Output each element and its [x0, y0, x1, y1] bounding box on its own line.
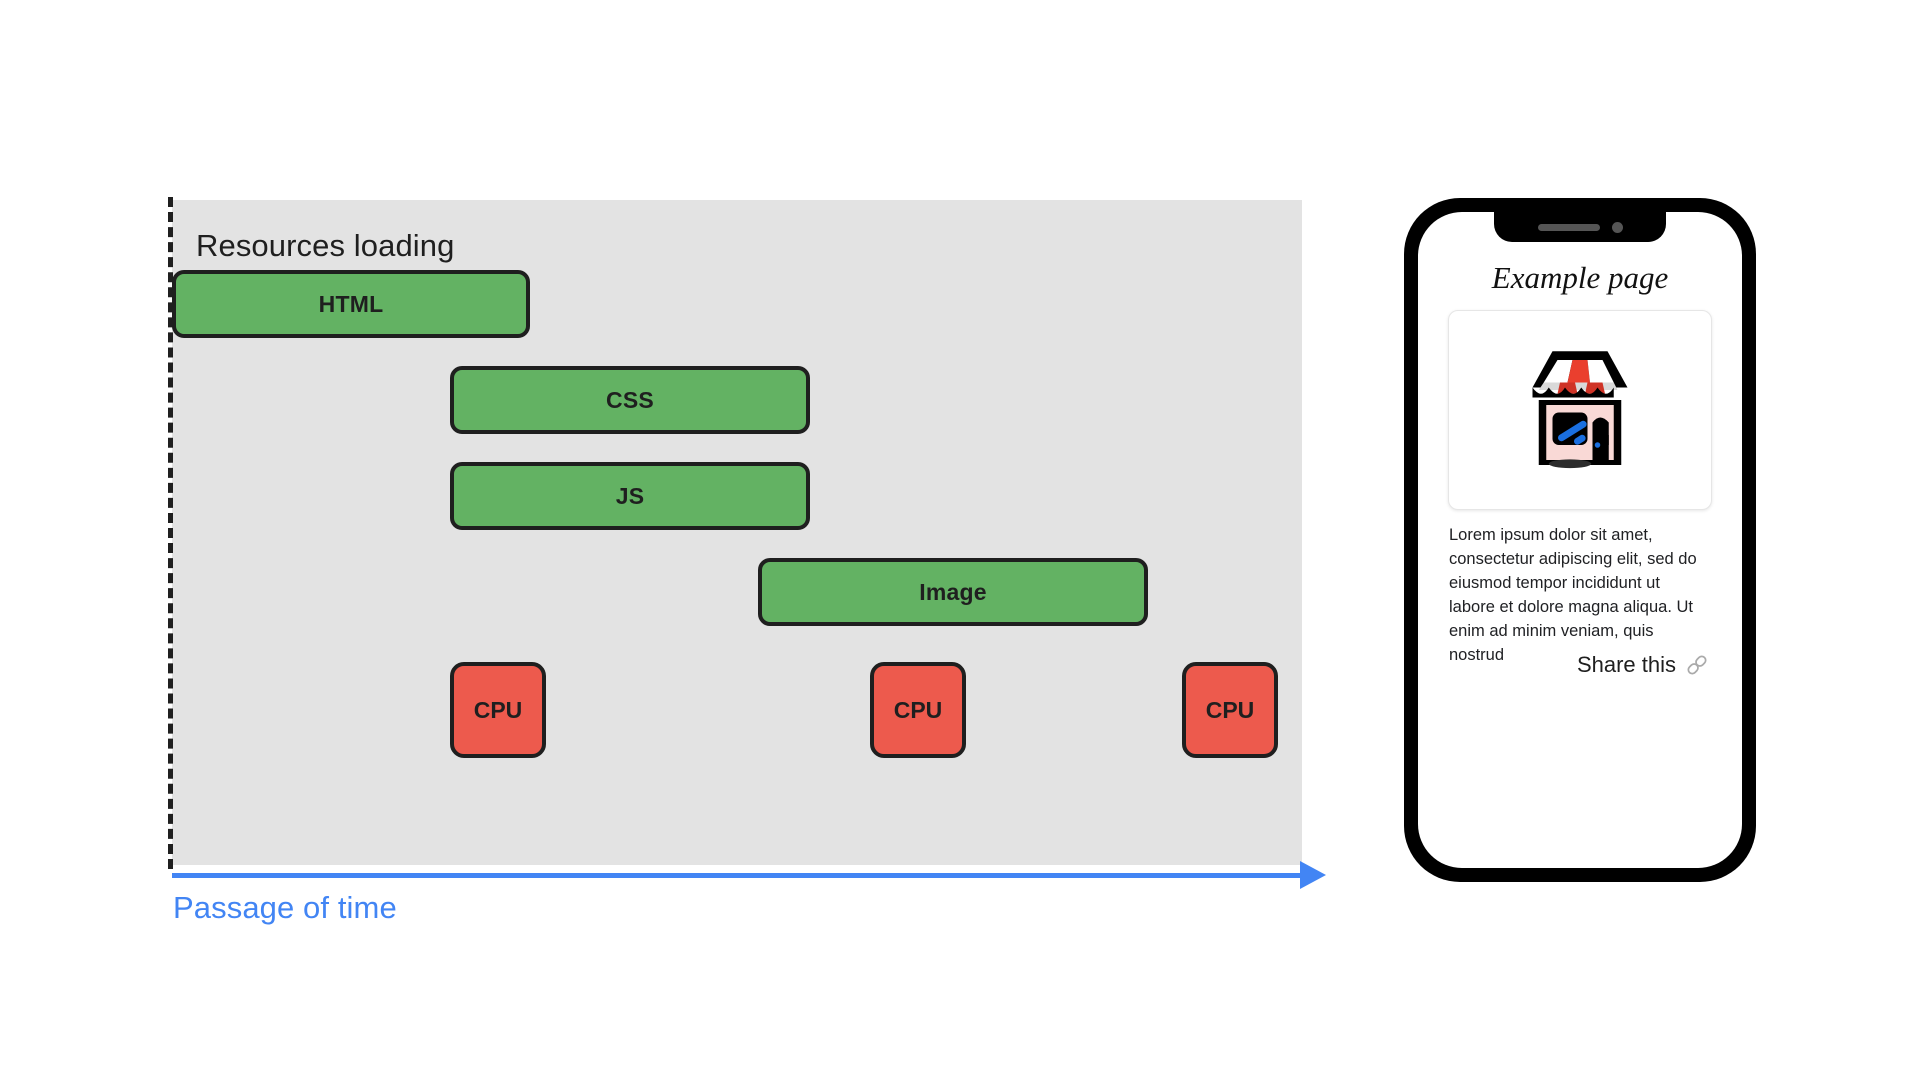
resource-bar-js: JS	[450, 462, 810, 530]
example-page-heading: Example page	[1418, 260, 1742, 296]
screenshot-root: Resources loading HTMLCSSJSImageCPUCPUCP…	[0, 0, 1920, 1080]
camera-icon	[1612, 222, 1623, 233]
speaker-icon	[1538, 224, 1600, 231]
phone-notch	[1494, 212, 1666, 242]
cpu-block: CPU	[870, 662, 966, 758]
page-title: Resources loading	[196, 228, 454, 264]
timeline-arrow-head-icon	[1300, 861, 1326, 889]
share-label: Share this	[1577, 652, 1676, 678]
hero-image-card	[1448, 310, 1712, 510]
storefront-icon	[1505, 335, 1655, 485]
resource-bar-css: CSS	[450, 366, 810, 434]
resource-bar-html: HTML	[172, 270, 530, 338]
resource-bar-image: Image	[758, 558, 1148, 626]
timeline-label: Passage of time	[173, 890, 397, 926]
share-this-link[interactable]: Share this	[1577, 652, 1710, 678]
phone-mockup: Example page	[1404, 198, 1756, 882]
link-icon	[1679, 647, 1716, 684]
cpu-block: CPU	[1182, 662, 1278, 758]
page-body-text: Lorem ipsum dolor sit amet, consectetur …	[1449, 524, 1701, 668]
cpu-block: CPU	[450, 662, 546, 758]
timeline-axis-line	[172, 873, 1312, 878]
phone-screen: Example page	[1418, 212, 1742, 868]
